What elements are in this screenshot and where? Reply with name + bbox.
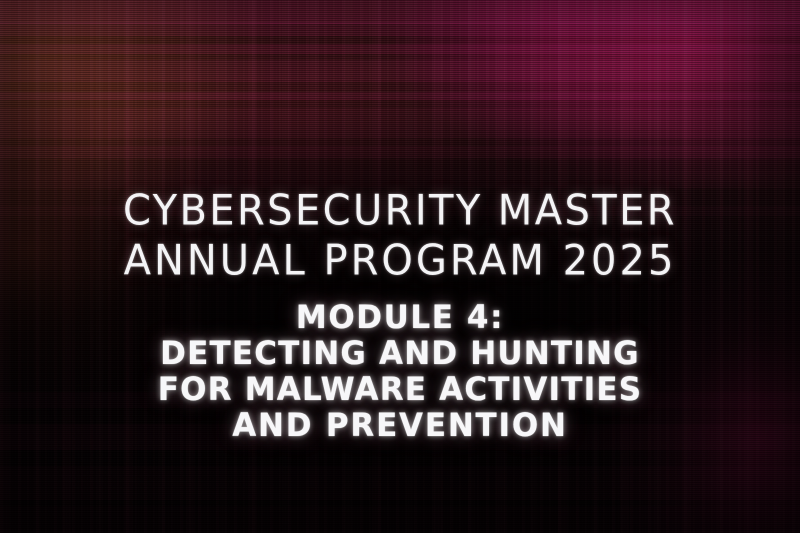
module-subtitle-line-1: DETECTING AND HUNTING [160, 336, 640, 373]
program-title-line-1: CYBERSECURITY MASTER [123, 185, 677, 237]
slide-text-stack: CYBERSECURITY MASTER ANNUAL PROGRAM 2025… [0, 0, 800, 533]
module-label: MODULE 4: [296, 300, 504, 337]
module-subtitle-line-2: FOR MALWARE ACTIVITIES [158, 372, 643, 409]
module-subtitle-block: MODULE 4: DETECTING AND HUNTING FOR MALW… [158, 300, 643, 444]
slide-canvas: CYBERSECURITY MASTER ANNUAL PROGRAM 2025… [0, 0, 800, 533]
program-title-line-2: ANNUAL PROGRAM 2025 [124, 235, 677, 287]
module-subtitle-line-3: AND PREVENTION [232, 408, 568, 445]
